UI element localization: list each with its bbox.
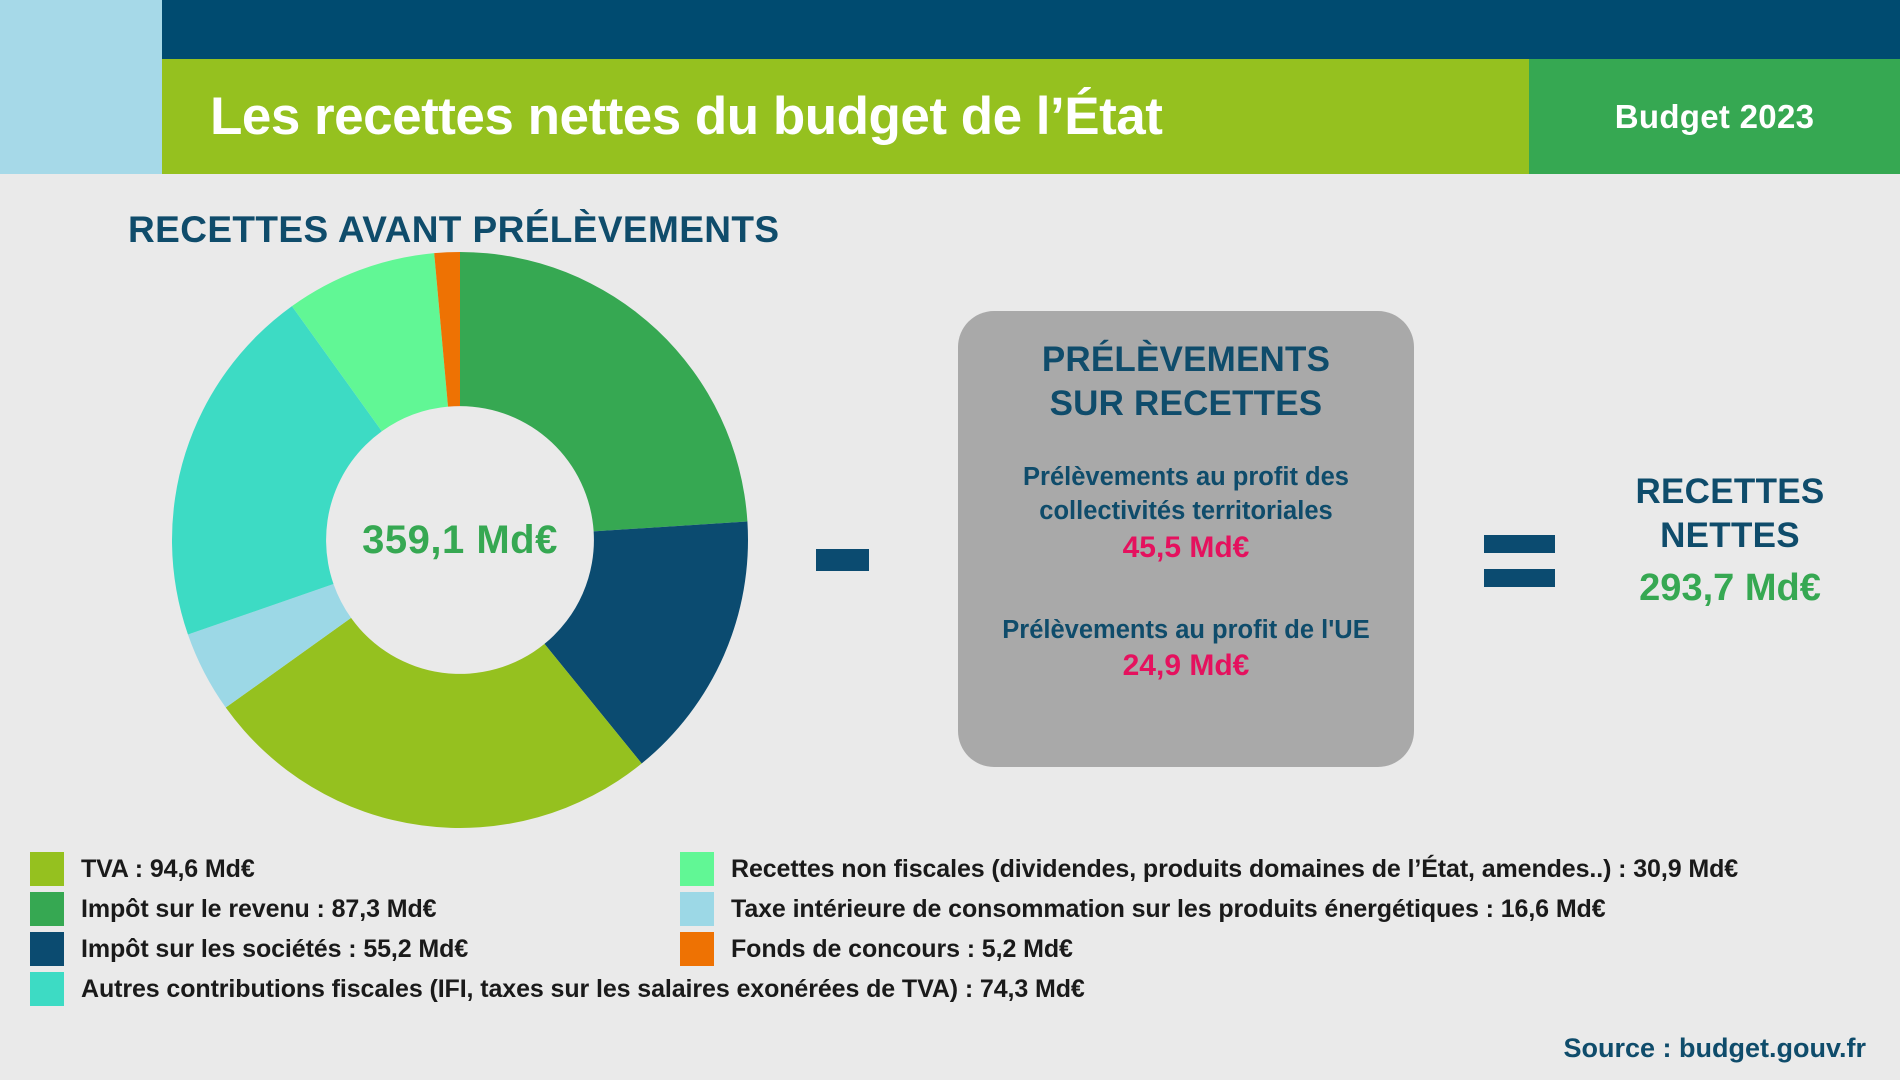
prelevements-title-line1: PRÉLÈVEMENTS (1042, 338, 1330, 382)
source-label: Source : budget.gouv.fr (1564, 1033, 1867, 1064)
prelevements-title-line2: SUR RECETTES (1042, 382, 1330, 426)
prelevements-item-label-line1: Prélèvements au profit de l'UE (970, 613, 1402, 647)
equals-bar-bottom (1484, 569, 1555, 587)
equals-bar-top (1484, 535, 1555, 553)
legend-color-swatch (30, 972, 64, 1006)
donut-chart: 359,1 Md€ (172, 252, 748, 828)
equals-operator-icon (1484, 535, 1555, 587)
legend-color-swatch (680, 852, 714, 886)
infographic-page: Les recettes nettes du budget de l’État … (0, 0, 1900, 1080)
recettes-nettes-title-line1: RECETTES (1590, 470, 1870, 514)
header-accent-lightblue (0, 0, 162, 174)
minus-operator-icon (816, 549, 869, 571)
donut-chart-svg (172, 252, 748, 828)
prelevements-item-label-line2: collectivités territoriales (970, 494, 1402, 528)
legend-color-swatch (680, 892, 714, 926)
prelevements-title: PRÉLÈVEMENTS SUR RECETTES (1042, 338, 1330, 426)
legend-item-label: Impôt sur le revenu : 87,3 Md€ (81, 895, 436, 924)
prelevements-item-amount: 45,5 Md€ (958, 531, 1414, 565)
prelevements-panel: PRÉLÈVEMENTS SUR RECETTES Prélèvements a… (958, 311, 1414, 767)
page-title: Les recettes nettes du budget de l’État (210, 86, 1162, 147)
legend-item: Taxe intérieure de consommation sur les … (680, 892, 1606, 926)
recettes-nettes-result: RECETTES NETTES 293,7 Md€ (1590, 470, 1870, 610)
header-banner: Les recettes nettes du budget de l’État … (0, 0, 1900, 178)
legend-item-label: TVA : 94,6 Md€ (81, 855, 255, 884)
recettes-nettes-title-line2: NETTES (1590, 514, 1870, 558)
legend-item-label: Fonds de concours : 5,2 Md€ (731, 935, 1073, 964)
prelevements-item-label: Prélèvements au profit de l'UE (958, 613, 1414, 647)
prelevements-item-label: Prélèvements au profit des collectivités… (958, 460, 1414, 528)
legend-color-swatch (30, 932, 64, 966)
legend-item-label: Taxe intérieure de consommation sur les … (731, 895, 1606, 924)
legend-item-label: Autres contributions fiscales (IFI, taxe… (81, 975, 1085, 1004)
header-accent-darkblue (162, 0, 1900, 59)
prelevements-item-collectivites: Prélèvements au profit des collectivités… (958, 460, 1414, 564)
legend-item: Impôt sur le revenu : 87,3 Md€ (30, 892, 436, 926)
legend-item: Autres contributions fiscales (IFI, taxe… (30, 972, 1085, 1006)
legend-item: Impôt sur les sociétés : 55,2 Md€ (30, 932, 468, 966)
recettes-nettes-title: RECETTES NETTES (1590, 470, 1870, 559)
budget-year-label: Budget 2023 (1615, 98, 1815, 136)
prelevements-item-amount: 24,9 Md€ (958, 649, 1414, 683)
header-budget-badge: Budget 2023 (1529, 59, 1900, 174)
donut-slice (460, 252, 747, 531)
prelevements-item-label-line1: Prélèvements au profit des (970, 460, 1402, 494)
header-title-band: Les recettes nettes du budget de l’État (162, 59, 1529, 174)
legend-item: TVA : 94,6 Md€ (30, 852, 255, 886)
recettes-nettes-amount: 293,7 Md€ (1590, 567, 1870, 610)
legend-color-swatch (680, 932, 714, 966)
legend-item-label: Recettes non fiscales (dividendes, produ… (731, 855, 1738, 884)
legend-item: Recettes non fiscales (dividendes, produ… (680, 852, 1738, 886)
section-title: RECETTES AVANT PRÉLÈVEMENTS (128, 209, 780, 251)
prelevements-item-ue: Prélèvements au profit de l'UE 24,9 Md€ (958, 613, 1414, 683)
legend-item: Fonds de concours : 5,2 Md€ (680, 932, 1073, 966)
legend-color-swatch (30, 892, 64, 926)
legend-color-swatch (30, 852, 64, 886)
legend-item-label: Impôt sur les sociétés : 55,2 Md€ (81, 935, 468, 964)
